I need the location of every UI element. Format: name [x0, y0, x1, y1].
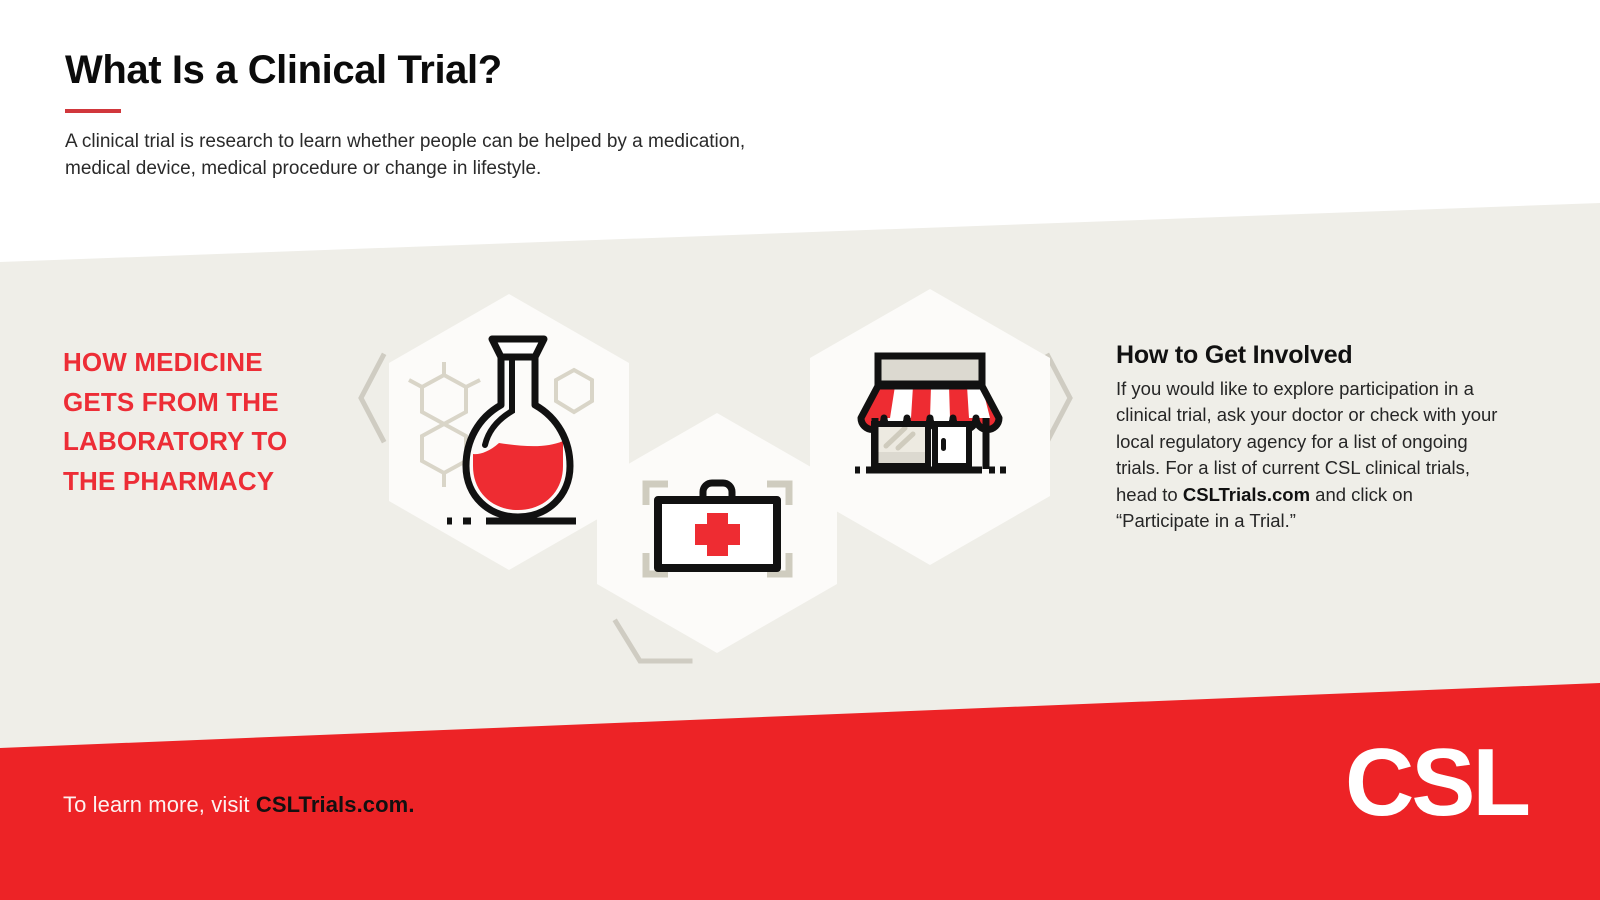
first-aid-kit-icon [646, 483, 789, 574]
window-shine-icon [886, 428, 913, 448]
process-label-line-3: LABORATORY TO [63, 426, 287, 456]
hexagon-shape [597, 413, 837, 653]
footer-cta: To learn more, visit CSLTrials.com. [63, 792, 415, 818]
hexagon-laboratory[interactable] [389, 294, 629, 570]
storefront-body [872, 424, 988, 472]
intro-paragraph: A clinical trial is research to learn wh… [65, 129, 895, 183]
footer-csltrials-link[interactable]: CSLTrials.com [256, 792, 409, 817]
storefront-awning [861, 386, 999, 418]
get-involved-block: How to Get Involved If you would like to… [1116, 341, 1516, 535]
get-involved-body: If you would like to explore participati… [1116, 376, 1508, 535]
flask-rim [492, 339, 544, 357]
flask-liquid [473, 441, 563, 510]
intro-line-1: A clinical trial is research to learn wh… [65, 131, 745, 152]
header: What Is a Clinical Trial? A clinical tri… [65, 48, 965, 183]
page-title: What Is a Clinical Trial? [65, 48, 965, 92]
process-label-line-4: THE PHARMACY [63, 466, 274, 496]
hexagon-pharmacy[interactable] [810, 289, 1050, 565]
hexagon-shape [389, 294, 629, 570]
storefront-signboard [878, 356, 982, 384]
kit-cross-icon [695, 513, 740, 556]
process-label: HOW MEDICINE GETS FROM THE LABORATORY TO… [63, 343, 363, 501]
flask-highlight [485, 357, 512, 445]
intro-line-2: medical device, medical procedure or cha… [65, 158, 541, 179]
flask-icon [447, 339, 576, 521]
footer-cta-suffix: . [408, 792, 414, 817]
corner-bracket-icon [616, 622, 690, 661]
focus-brackets-icon [646, 484, 789, 574]
process-label-line-1: HOW MEDICINE [63, 347, 263, 377]
chevron-left-icon [361, 356, 383, 440]
process-label-line-2: GETS FROM THE [63, 387, 279, 417]
storefront-window [874, 424, 928, 466]
hexagon-shape [810, 289, 1050, 565]
awning-outline [861, 386, 999, 430]
footer-cta-prefix: To learn more, visit [63, 792, 256, 817]
kit-case [658, 500, 777, 568]
csl-logo: CSL [1345, 735, 1528, 831]
molecule-decoration-icon [409, 362, 592, 487]
hexagon-clinical-trial[interactable] [597, 413, 837, 653]
title-underline-rule [65, 109, 121, 113]
window-frame [874, 424, 928, 466]
chevron-right-icon [1048, 356, 1070, 440]
storefront-door [935, 424, 969, 466]
door-handle-icon [941, 438, 946, 451]
storefront-sill [874, 452, 928, 466]
awning-scallops [861, 418, 999, 430]
get-involved-heading: How to Get Involved [1116, 341, 1516, 370]
pharmacy-storefront-icon [855, 356, 1006, 472]
infographic-poster: What Is a Clinical Trial? A clinical tri… [0, 0, 1600, 900]
awning-stripes [890, 386, 990, 418]
csltrials-link-inline[interactable]: CSLTrials.com [1183, 484, 1310, 505]
flask-outline [466, 345, 570, 517]
kit-handle [703, 483, 732, 501]
